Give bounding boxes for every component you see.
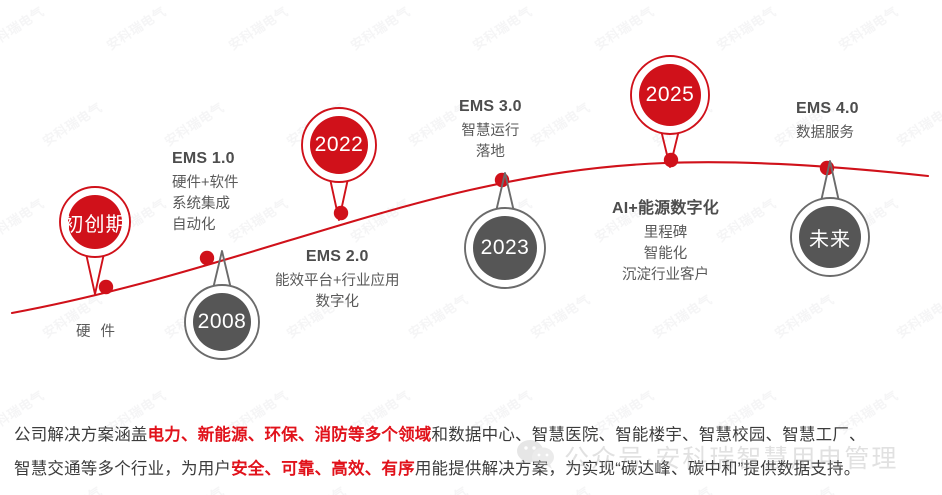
milestone-heading: EMS 3.0 [459,95,522,118]
milestone-text-block: EMS 2.0能效平台+行业应用数字化 [275,245,399,313]
milestone-detail-line: 里程碑 [612,223,719,244]
milestone-caption: 硬 件 [76,320,118,341]
milestone-detail-line: 沉淀行业客户 [612,265,719,286]
milestone-heading: EMS 2.0 [275,245,399,268]
milestone-detail-line: 数据服务 [796,123,859,144]
milestone-text-block: EMS 3.0智慧运行落地 [459,95,522,163]
timeline-dot[interactable] [99,280,113,294]
summary-text: 和数据中心、智慧医院、智能楼宇、智慧校园、智慧工厂、 [432,426,866,444]
milestone-detail-line: 能效平台+行业应用 [275,271,399,292]
summary-highlight: 电力、新能源、环保、消防等多个领域 [148,426,432,444]
milestone-heading: AI+能源数字化 [612,197,719,220]
milestone-heading: EMS 1.0 [172,147,238,170]
milestone-bubble[interactable]: 2025 [627,52,713,138]
summary-paragraph: 公司解决方案涵盖电力、新能源、环保、消防等多个领域和数据中心、智慧医院、智能楼宇… [14,418,934,486]
bubble-disc [639,64,701,126]
bubble-disc [473,216,537,280]
milestone-heading: EMS 4.0 [796,97,859,120]
bubble-disc [310,116,368,174]
milestone-text-block: EMS 4.0数据服务 [796,97,859,144]
milestone-detail-line: 落地 [459,142,522,163]
milestone-bubble[interactable]: 未来 [787,194,873,280]
bubble-disc [68,195,122,249]
milestone-detail-line: 硬件+软件 [172,173,238,194]
milestone-text-block: AI+能源数字化里程碑智能化沉淀行业客户 [612,197,719,286]
milestone-bubble[interactable]: 初创期 [56,183,134,261]
bubble-disc [799,206,861,268]
milestone-text-block: EMS 1.0硬件+软件系统集成自动化 [172,147,238,236]
summary-line-2: 智慧交通等多个行业，为用户安全、可靠、高效、有序用能提供解决方案，为实现“碳达峰… [14,452,934,486]
infographic-canvas: 安科瑞电气安科瑞电气安科瑞电气安科瑞电气安科瑞电气安科瑞电气安科瑞电气安科瑞电气… [0,0,942,495]
milestone-detail-line: 系统集成 [172,194,238,215]
milestone-detail-line: 智慧运行 [459,121,522,142]
milestone-bubble[interactable]: 2023 [461,204,549,292]
summary-text: 公司解决方案涵盖 [14,426,148,444]
milestone-bubble[interactable]: 2022 [298,104,380,186]
summary-line-1: 公司解决方案涵盖电力、新能源、环保、消防等多个领域和数据中心、智慧医院、智能楼宇… [14,418,934,452]
milestone-detail-line: 智能化 [612,244,719,265]
milestone-detail-line: 数字化 [275,292,399,313]
timeline-dot[interactable] [200,251,214,265]
milestone-detail-line: 自动化 [172,215,238,236]
summary-text: 智慧交通等多个行业，为用户 [14,460,231,478]
summary-text: 用能提供解决方案，为实现“碳达峰、碳中和”提供数据支持。 [415,460,861,478]
milestone-bubble[interactable]: 2008 [181,281,263,363]
bubble-disc [193,293,251,351]
summary-highlight: 安全、可靠、高效、有序 [231,460,415,478]
